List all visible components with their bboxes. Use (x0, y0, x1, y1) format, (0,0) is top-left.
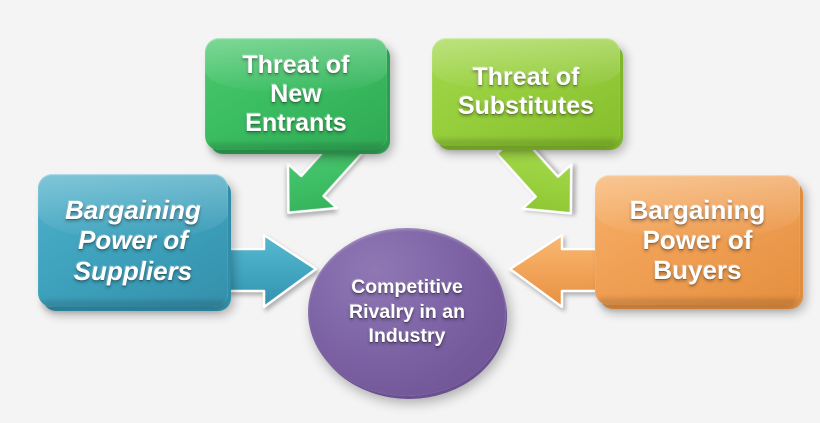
center-node-competitive-rivalry[interactable]: CompetitiveRivalry in anIndustry (308, 228, 506, 396)
center-label-line-1: Competitive (351, 276, 463, 298)
force-label-line-3: Buyers (653, 255, 741, 285)
force-label-line-1: Bargaining (65, 195, 201, 225)
force-label-line-3: Suppliers (74, 256, 192, 286)
force-label-line-2: Substitutes (458, 92, 594, 120)
force-label-line-2: New (270, 80, 321, 108)
force-box-suppliers[interactable]: BargainingPower ofSuppliers (38, 174, 228, 307)
force-label-suppliers: BargainingPower ofSuppliers (65, 195, 201, 285)
force-label-line-3: Entrants (245, 109, 346, 137)
force-box-buyers[interactable]: BargainingPower ofBuyers (595, 175, 800, 305)
center-label-line-2: Rivalry in an (349, 301, 465, 323)
force-label-buyers: BargainingPower ofBuyers (630, 195, 766, 285)
force-box-new-entrants[interactable]: Threat ofNewEntrants (205, 38, 387, 150)
force-label-line-1: Bargaining (630, 195, 766, 225)
force-label-line-1: Threat of (243, 51, 350, 79)
force-label-line-1: Threat of (473, 63, 580, 91)
force-label-new-entrants: Threat ofNewEntrants (243, 51, 350, 138)
force-box-substitutes[interactable]: Threat ofSubstitutes (432, 38, 620, 146)
porters-five-forces-diagram: Threat ofNewEntrants Threat ofSubstitute… (0, 0, 820, 423)
center-label: CompetitiveRivalry in anIndustry (349, 275, 465, 350)
force-label-substitutes: Threat ofSubstitutes (458, 63, 594, 121)
center-label-line-3: Industry (369, 325, 446, 347)
force-label-line-2: Power of (643, 225, 753, 255)
force-label-line-2: Power of (78, 225, 188, 255)
